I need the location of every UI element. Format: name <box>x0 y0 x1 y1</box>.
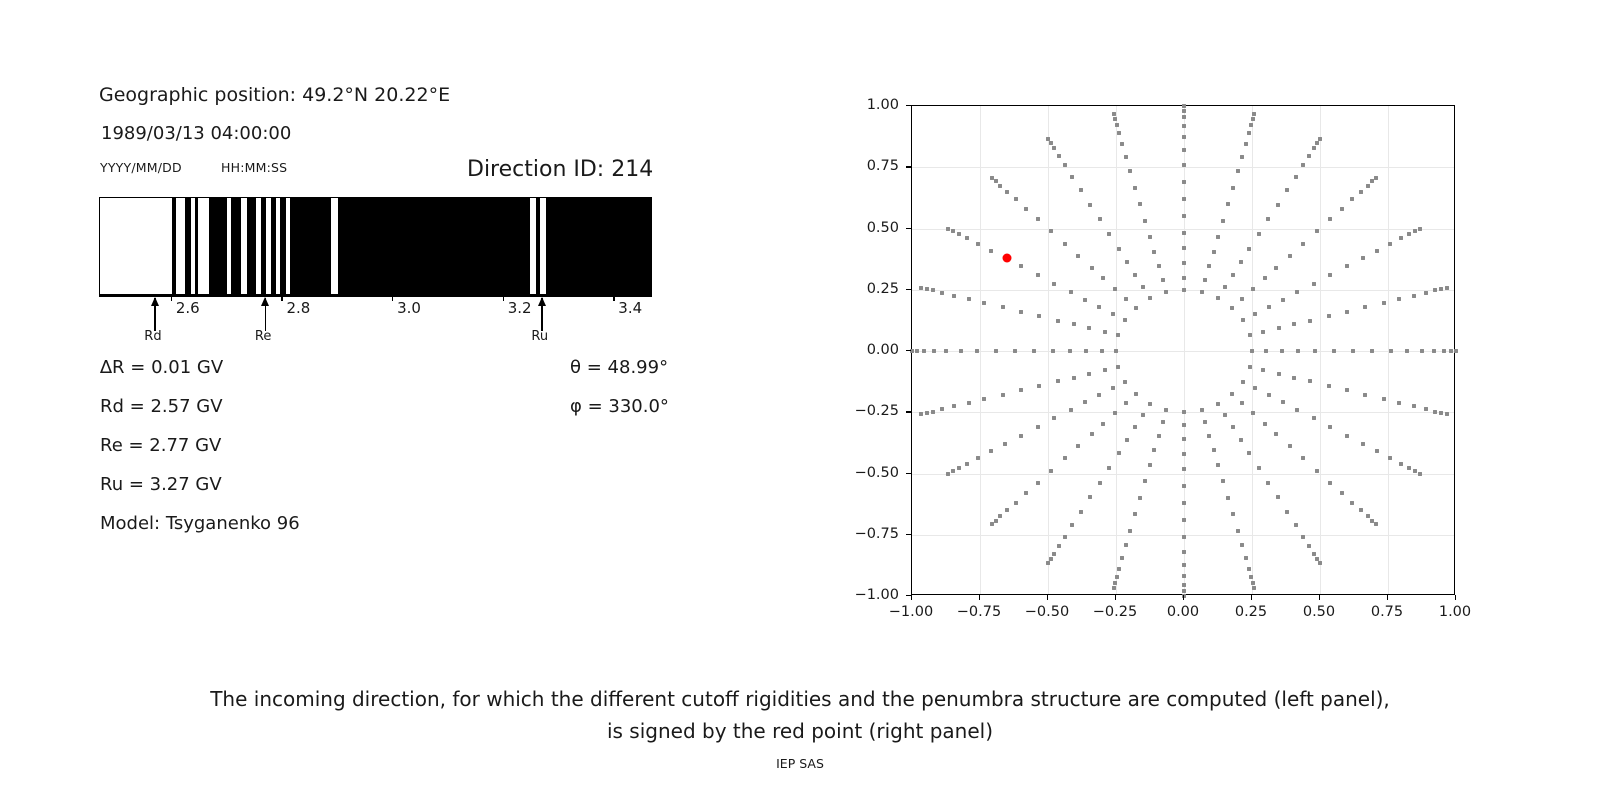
direction-dot <box>1107 466 1111 470</box>
direction-dot <box>1350 501 1354 505</box>
direction-dot <box>1294 175 1298 179</box>
direction-dot <box>1281 298 1285 302</box>
direction-dot <box>1070 523 1074 527</box>
direction-dot <box>1088 495 1092 499</box>
direction-dot <box>1001 393 1005 397</box>
direction-dot <box>965 236 969 240</box>
direction-id-label: Direction ID: 214 <box>467 157 653 182</box>
direction-dot <box>1345 310 1349 314</box>
rigidity-marker-label-re: Re <box>255 329 271 344</box>
direction-dot <box>1388 242 1392 246</box>
direction-dot <box>1312 416 1316 420</box>
direction-dot <box>1412 294 1416 298</box>
direction-dot <box>1280 349 1284 353</box>
direction-dot <box>1107 232 1111 236</box>
direction-dot <box>951 469 955 473</box>
direction-dot <box>1111 312 1115 316</box>
polar-scatter-plot <box>911 105 1455 595</box>
y-axis-tick <box>906 350 911 351</box>
direction-dot <box>1079 510 1083 514</box>
direction-dot <box>1133 512 1137 516</box>
direction-dot <box>1157 434 1161 438</box>
direction-dot <box>1292 322 1296 326</box>
direction-dot <box>1182 246 1186 250</box>
direction-dot <box>1084 349 1088 353</box>
datetime-label: 1989/03/13 04:00:00 <box>101 123 291 144</box>
direction-dot <box>1432 349 1436 353</box>
direction-dot <box>1301 456 1305 460</box>
direction-dot <box>1301 535 1305 539</box>
direction-dot <box>994 179 998 183</box>
direction-dot <box>1424 407 1428 411</box>
direction-dot <box>1049 141 1053 145</box>
direction-dot <box>1112 112 1116 116</box>
direction-dot <box>1182 276 1186 280</box>
direction-dot <box>1037 314 1041 318</box>
direction-dot <box>1251 411 1255 415</box>
direction-dot <box>1019 388 1023 392</box>
direction-dot <box>1263 276 1267 280</box>
direction-dot <box>1226 496 1230 500</box>
direction-dot <box>1221 479 1225 483</box>
direction-dot <box>1083 400 1087 404</box>
penumbra-black-band <box>209 198 227 294</box>
direction-dot <box>1244 142 1248 146</box>
direction-dot <box>1407 232 1411 236</box>
direction-dot <box>1141 413 1145 417</box>
stat-left-0: ∆R = 0.01 GV <box>100 357 223 378</box>
direction-dot <box>976 242 980 246</box>
direction-dot <box>1433 410 1437 414</box>
y-axis-tick-label: −0.50 <box>835 465 899 481</box>
direction-dot <box>1182 550 1186 554</box>
direction-dot <box>1069 408 1073 412</box>
direction-dot <box>1182 574 1186 578</box>
direction-dot <box>998 184 1002 188</box>
direction-dot <box>1295 408 1299 412</box>
direction-dot <box>1117 451 1121 455</box>
direction-dot <box>1361 442 1365 446</box>
direction-dot <box>1182 261 1186 265</box>
direction-dot <box>1216 402 1220 406</box>
penumbra-black-band <box>338 198 530 294</box>
direction-dot <box>1056 319 1060 323</box>
direction-dot <box>1318 137 1322 141</box>
direction-dot <box>1340 207 1344 211</box>
x-axis-tick <box>1251 595 1252 600</box>
direction-dot <box>1288 254 1292 258</box>
direction-dot <box>1124 155 1128 159</box>
direction-dot <box>1252 112 1256 116</box>
stat-left-2: Re = 2.77 GV <box>100 435 221 456</box>
direction-dot <box>1087 372 1091 376</box>
direction-dot <box>1134 392 1138 396</box>
x-axis-tick <box>911 595 912 600</box>
direction-dot <box>1236 529 1240 533</box>
direction-dot <box>1366 514 1370 518</box>
direction-dot <box>940 407 944 411</box>
direction-dot <box>1036 425 1040 429</box>
direction-dot <box>1257 232 1261 236</box>
direction-dot <box>967 401 971 405</box>
direction-dot <box>1072 322 1076 326</box>
penumbra-black-band <box>247 198 257 294</box>
direction-dot <box>1123 380 1127 384</box>
direction-dot <box>982 397 986 401</box>
direction-dot <box>1445 412 1449 416</box>
direction-dot <box>1251 287 1255 291</box>
y-axis-tick <box>906 166 911 167</box>
direction-dot <box>1375 449 1379 453</box>
direction-dot <box>1036 481 1040 485</box>
direction-dot <box>1382 301 1386 305</box>
direction-dot <box>1276 495 1280 499</box>
direction-dot <box>1264 349 1268 353</box>
direction-dot <box>1120 142 1124 146</box>
x-axis-tick-label: −0.25 <box>1080 604 1150 620</box>
x-axis-tick-label: 0.00 <box>1148 604 1218 620</box>
x-axis-tick-label: 1.00 <box>1420 604 1490 620</box>
penumbra-axis-tick <box>613 295 614 301</box>
direction-dot <box>1230 306 1234 310</box>
direction-dot <box>1359 508 1363 512</box>
direction-dot <box>1405 349 1409 353</box>
direction-dot <box>1361 256 1365 260</box>
direction-dot <box>1133 425 1137 429</box>
direction-dot <box>1090 432 1094 436</box>
direction-dot <box>1063 535 1067 539</box>
direction-dot <box>1359 190 1363 194</box>
direction-dot <box>1226 202 1230 206</box>
direction-dot <box>1200 290 1204 294</box>
y-axis-tick <box>906 534 911 535</box>
date-format-hint: YYYY/MM/DD <box>100 160 182 175</box>
direction-dot <box>915 349 919 353</box>
direction-dot <box>1164 408 1168 412</box>
direction-dot <box>1247 451 1251 455</box>
direction-dot <box>1182 197 1186 201</box>
direction-dot <box>1182 115 1186 119</box>
direction-dot <box>919 286 923 290</box>
y-axis-tick-label: −1.00 <box>835 587 899 603</box>
direction-dot <box>1388 456 1392 460</box>
x-axis-tick <box>1455 595 1456 600</box>
direction-dot <box>1164 290 1168 294</box>
direction-dot <box>1407 466 1411 470</box>
direction-dot <box>919 412 923 416</box>
direction-dot <box>1182 163 1186 167</box>
direction-dot <box>1285 188 1289 192</box>
penumbra-black-band <box>185 198 191 294</box>
direction-dot <box>1439 411 1443 415</box>
x-axis-tick-label: −1.00 <box>876 604 946 620</box>
direction-dot <box>1223 285 1227 289</box>
gridline-vertical <box>1048 106 1049 594</box>
direction-dot <box>1340 491 1344 495</box>
direction-dot <box>1231 512 1235 516</box>
direction-dot <box>1019 434 1023 438</box>
direction-dot <box>1117 567 1121 571</box>
direction-dot <box>1157 264 1161 268</box>
direction-dot <box>922 349 926 353</box>
direction-dot <box>1312 552 1316 556</box>
direction-dot <box>1182 124 1186 128</box>
geographic-position-label: Geographic position: 49.2°N 20.22°E <box>99 84 450 106</box>
direction-dot <box>940 291 944 295</box>
direction-dot <box>1307 544 1311 548</box>
direction-dot <box>1313 349 1317 353</box>
direction-dot <box>1439 287 1443 291</box>
direction-dot <box>1308 319 1312 323</box>
direction-dot <box>1128 169 1132 173</box>
direction-dot <box>1420 349 1424 353</box>
direction-dot <box>1019 264 1023 268</box>
direction-dot <box>1133 186 1137 190</box>
direction-dot <box>1294 523 1298 527</box>
direction-dot <box>1241 380 1245 384</box>
rigidity-marker-label-ru: Ru <box>531 329 548 344</box>
direction-dot <box>1240 543 1244 547</box>
direction-dot <box>1063 163 1067 167</box>
direction-dot <box>944 349 948 353</box>
direction-dot <box>1182 563 1186 567</box>
direction-dot <box>1072 376 1076 380</box>
direction-dot <box>1182 501 1186 505</box>
direction-dot <box>1301 242 1305 246</box>
direction-dot <box>1182 535 1186 539</box>
direction-dot <box>1114 349 1118 353</box>
penumbra-axis-line <box>99 295 652 297</box>
direction-dot <box>1231 425 1235 429</box>
direction-dot <box>1241 318 1245 322</box>
y-axis-tick-label: 0.50 <box>835 220 899 236</box>
direction-dot <box>1252 586 1256 590</box>
direction-dot <box>1212 448 1216 452</box>
stat-right-0: θ = 48.99° <box>570 357 668 378</box>
direction-dot <box>1230 392 1234 396</box>
direction-dot <box>1454 349 1458 353</box>
direction-dot <box>1083 298 1087 302</box>
direction-dot <box>1005 508 1009 512</box>
direction-dot <box>1046 137 1050 141</box>
direction-dot <box>1097 393 1101 397</box>
direction-dot <box>946 472 950 476</box>
direction-dot <box>1251 117 1255 121</box>
stat-left-3: Ru = 3.27 GV <box>100 474 222 495</box>
direction-dot <box>1098 217 1102 221</box>
penumbra-black-band <box>231 198 241 294</box>
gridline-vertical <box>1320 106 1321 594</box>
y-axis-tick-label: −0.25 <box>835 403 899 419</box>
direction-dot <box>1274 432 1278 436</box>
direction-dot <box>931 410 935 414</box>
direction-dot <box>1328 217 1332 221</box>
rigidity-marker-arrow-ru <box>541 298 543 331</box>
direction-dot <box>1087 326 1091 330</box>
direction-dot <box>1138 496 1142 500</box>
direction-dot <box>1285 510 1289 514</box>
direction-dot <box>1124 543 1128 547</box>
penumbra-axis-tick <box>281 295 282 301</box>
direction-dot <box>1231 273 1235 277</box>
direction-dot <box>1207 434 1211 438</box>
direction-dot <box>1161 278 1165 282</box>
direction-dot <box>1152 250 1156 254</box>
direction-dot <box>1247 131 1251 135</box>
direction-dot <box>1001 305 1005 309</box>
direction-dot <box>1253 386 1257 390</box>
direction-dot <box>1052 282 1056 286</box>
rigidity-marker-label-rd: Rd <box>144 329 161 344</box>
stat-left-4: Model: Tsyganenko 96 <box>100 513 300 534</box>
direction-dot <box>1203 420 1207 424</box>
direction-dot <box>1098 481 1102 485</box>
direction-dot <box>1182 423 1186 427</box>
direction-dot <box>1182 214 1186 218</box>
direction-dot <box>1090 266 1094 270</box>
direction-dot <box>1069 290 1073 294</box>
direction-dot <box>1203 278 1207 282</box>
direction-dot <box>1182 148 1186 152</box>
direction-dot <box>1247 567 1251 571</box>
direction-dot <box>989 249 993 253</box>
penumbra-axis-tick <box>503 295 504 301</box>
direction-dot <box>1148 402 1152 406</box>
direction-dot <box>1115 123 1119 127</box>
direction-dot <box>1128 529 1132 533</box>
direction-dot <box>1312 282 1316 286</box>
penumbra-black-band <box>546 198 652 294</box>
direction-dot <box>1100 349 1104 353</box>
direction-dot <box>1182 583 1186 587</box>
direction-dot <box>1182 452 1186 456</box>
penumbra-black-band <box>280 198 286 294</box>
direction-dot <box>989 449 993 453</box>
direction-dot <box>1148 463 1152 467</box>
selected-direction-marker <box>1003 253 1012 262</box>
direction-dot <box>967 297 971 301</box>
direction-dot <box>1244 556 1248 560</box>
direction-dot <box>1182 231 1186 235</box>
direction-dot <box>1433 288 1437 292</box>
direction-dot <box>1101 422 1105 426</box>
direction-dot <box>1057 544 1061 548</box>
direction-dot <box>1397 297 1401 301</box>
direction-dot <box>1116 333 1120 337</box>
direction-dot <box>1223 413 1227 417</box>
direction-dot <box>1014 501 1018 505</box>
direction-dot <box>1076 254 1080 258</box>
direction-dot <box>1442 349 1446 353</box>
direction-dot <box>1148 235 1152 239</box>
direction-dot <box>1266 481 1270 485</box>
direction-dot <box>1332 349 1336 353</box>
direction-dot <box>1103 368 1107 372</box>
direction-dot <box>1124 297 1128 301</box>
direction-dot <box>1236 169 1240 173</box>
x-axis-tick-label: 0.25 <box>1216 604 1286 620</box>
direction-dot <box>1248 365 1252 369</box>
direction-dot <box>1292 376 1296 380</box>
direction-dot <box>1301 163 1305 167</box>
direction-dot <box>1281 400 1285 404</box>
direction-dot <box>1052 146 1056 150</box>
penumbra-axis-tick-label: 3.0 <box>397 299 421 317</box>
direction-dot <box>1182 437 1186 441</box>
penumbra-black-band <box>271 198 275 294</box>
direction-dot <box>1216 235 1220 239</box>
direction-dot <box>1117 247 1121 251</box>
direction-dot <box>1366 184 1370 188</box>
direction-dot <box>1024 491 1028 495</box>
penumbra-axis-tick <box>392 295 393 301</box>
direction-dot <box>1182 484 1186 488</box>
direction-dot <box>1182 180 1186 184</box>
y-axis-tick-label: 1.00 <box>835 97 899 113</box>
direction-dot <box>1249 575 1253 579</box>
direction-dot <box>998 514 1002 518</box>
penumbra-axis-tick-label: 2.6 <box>176 299 200 317</box>
direction-dot <box>1120 556 1124 560</box>
direction-dot <box>994 519 998 523</box>
direction-dot <box>1327 314 1331 318</box>
direction-dot <box>1307 154 1311 158</box>
x-axis-tick-label: 0.50 <box>1284 604 1354 620</box>
direction-dot <box>1328 481 1332 485</box>
direction-dot <box>1019 310 1023 314</box>
direction-dot <box>952 294 956 298</box>
direction-dot <box>1424 291 1428 295</box>
direction-dot <box>976 456 980 460</box>
direction-dot <box>1267 393 1271 397</box>
direction-dot <box>1363 393 1367 397</box>
direction-dot <box>1125 438 1129 442</box>
direction-dot <box>1345 434 1349 438</box>
y-axis-tick <box>906 228 911 229</box>
direction-dot <box>1221 219 1225 223</box>
direction-dot <box>1315 141 1319 145</box>
direction-dot <box>1036 273 1040 277</box>
direction-dot <box>1088 203 1092 207</box>
direction-dot <box>1240 155 1244 159</box>
y-axis-tick-label: 0.00 <box>835 342 899 358</box>
direction-dot <box>1318 561 1322 565</box>
direction-dot <box>1399 236 1403 240</box>
penumbra-panel: Geographic position: 49.2°N 20.22°E 1989… <box>0 0 800 680</box>
direction-dot <box>931 288 935 292</box>
direction-dot <box>925 287 929 291</box>
direction-dot <box>1374 522 1378 526</box>
direction-dot <box>1240 401 1244 405</box>
direction-dot <box>1003 442 1007 446</box>
direction-dot <box>965 462 969 466</box>
penumbra-black-band <box>261 198 266 294</box>
penumbra-structure-bar <box>99 197 652 295</box>
direction-dot <box>1068 349 1072 353</box>
direction-dot <box>957 466 961 470</box>
direction-dot <box>1375 249 1379 253</box>
rigidity-marker-arrow-rd <box>154 298 156 331</box>
direction-dot <box>1182 518 1186 522</box>
direction-dot <box>1345 264 1349 268</box>
direction-dot <box>1101 276 1105 280</box>
direction-dot <box>1288 444 1292 448</box>
direction-dot <box>1115 575 1119 579</box>
direction-dot <box>990 176 994 180</box>
direction-dot <box>1070 175 1074 179</box>
direction-dot <box>1247 247 1251 251</box>
direction-dot <box>1449 349 1453 353</box>
